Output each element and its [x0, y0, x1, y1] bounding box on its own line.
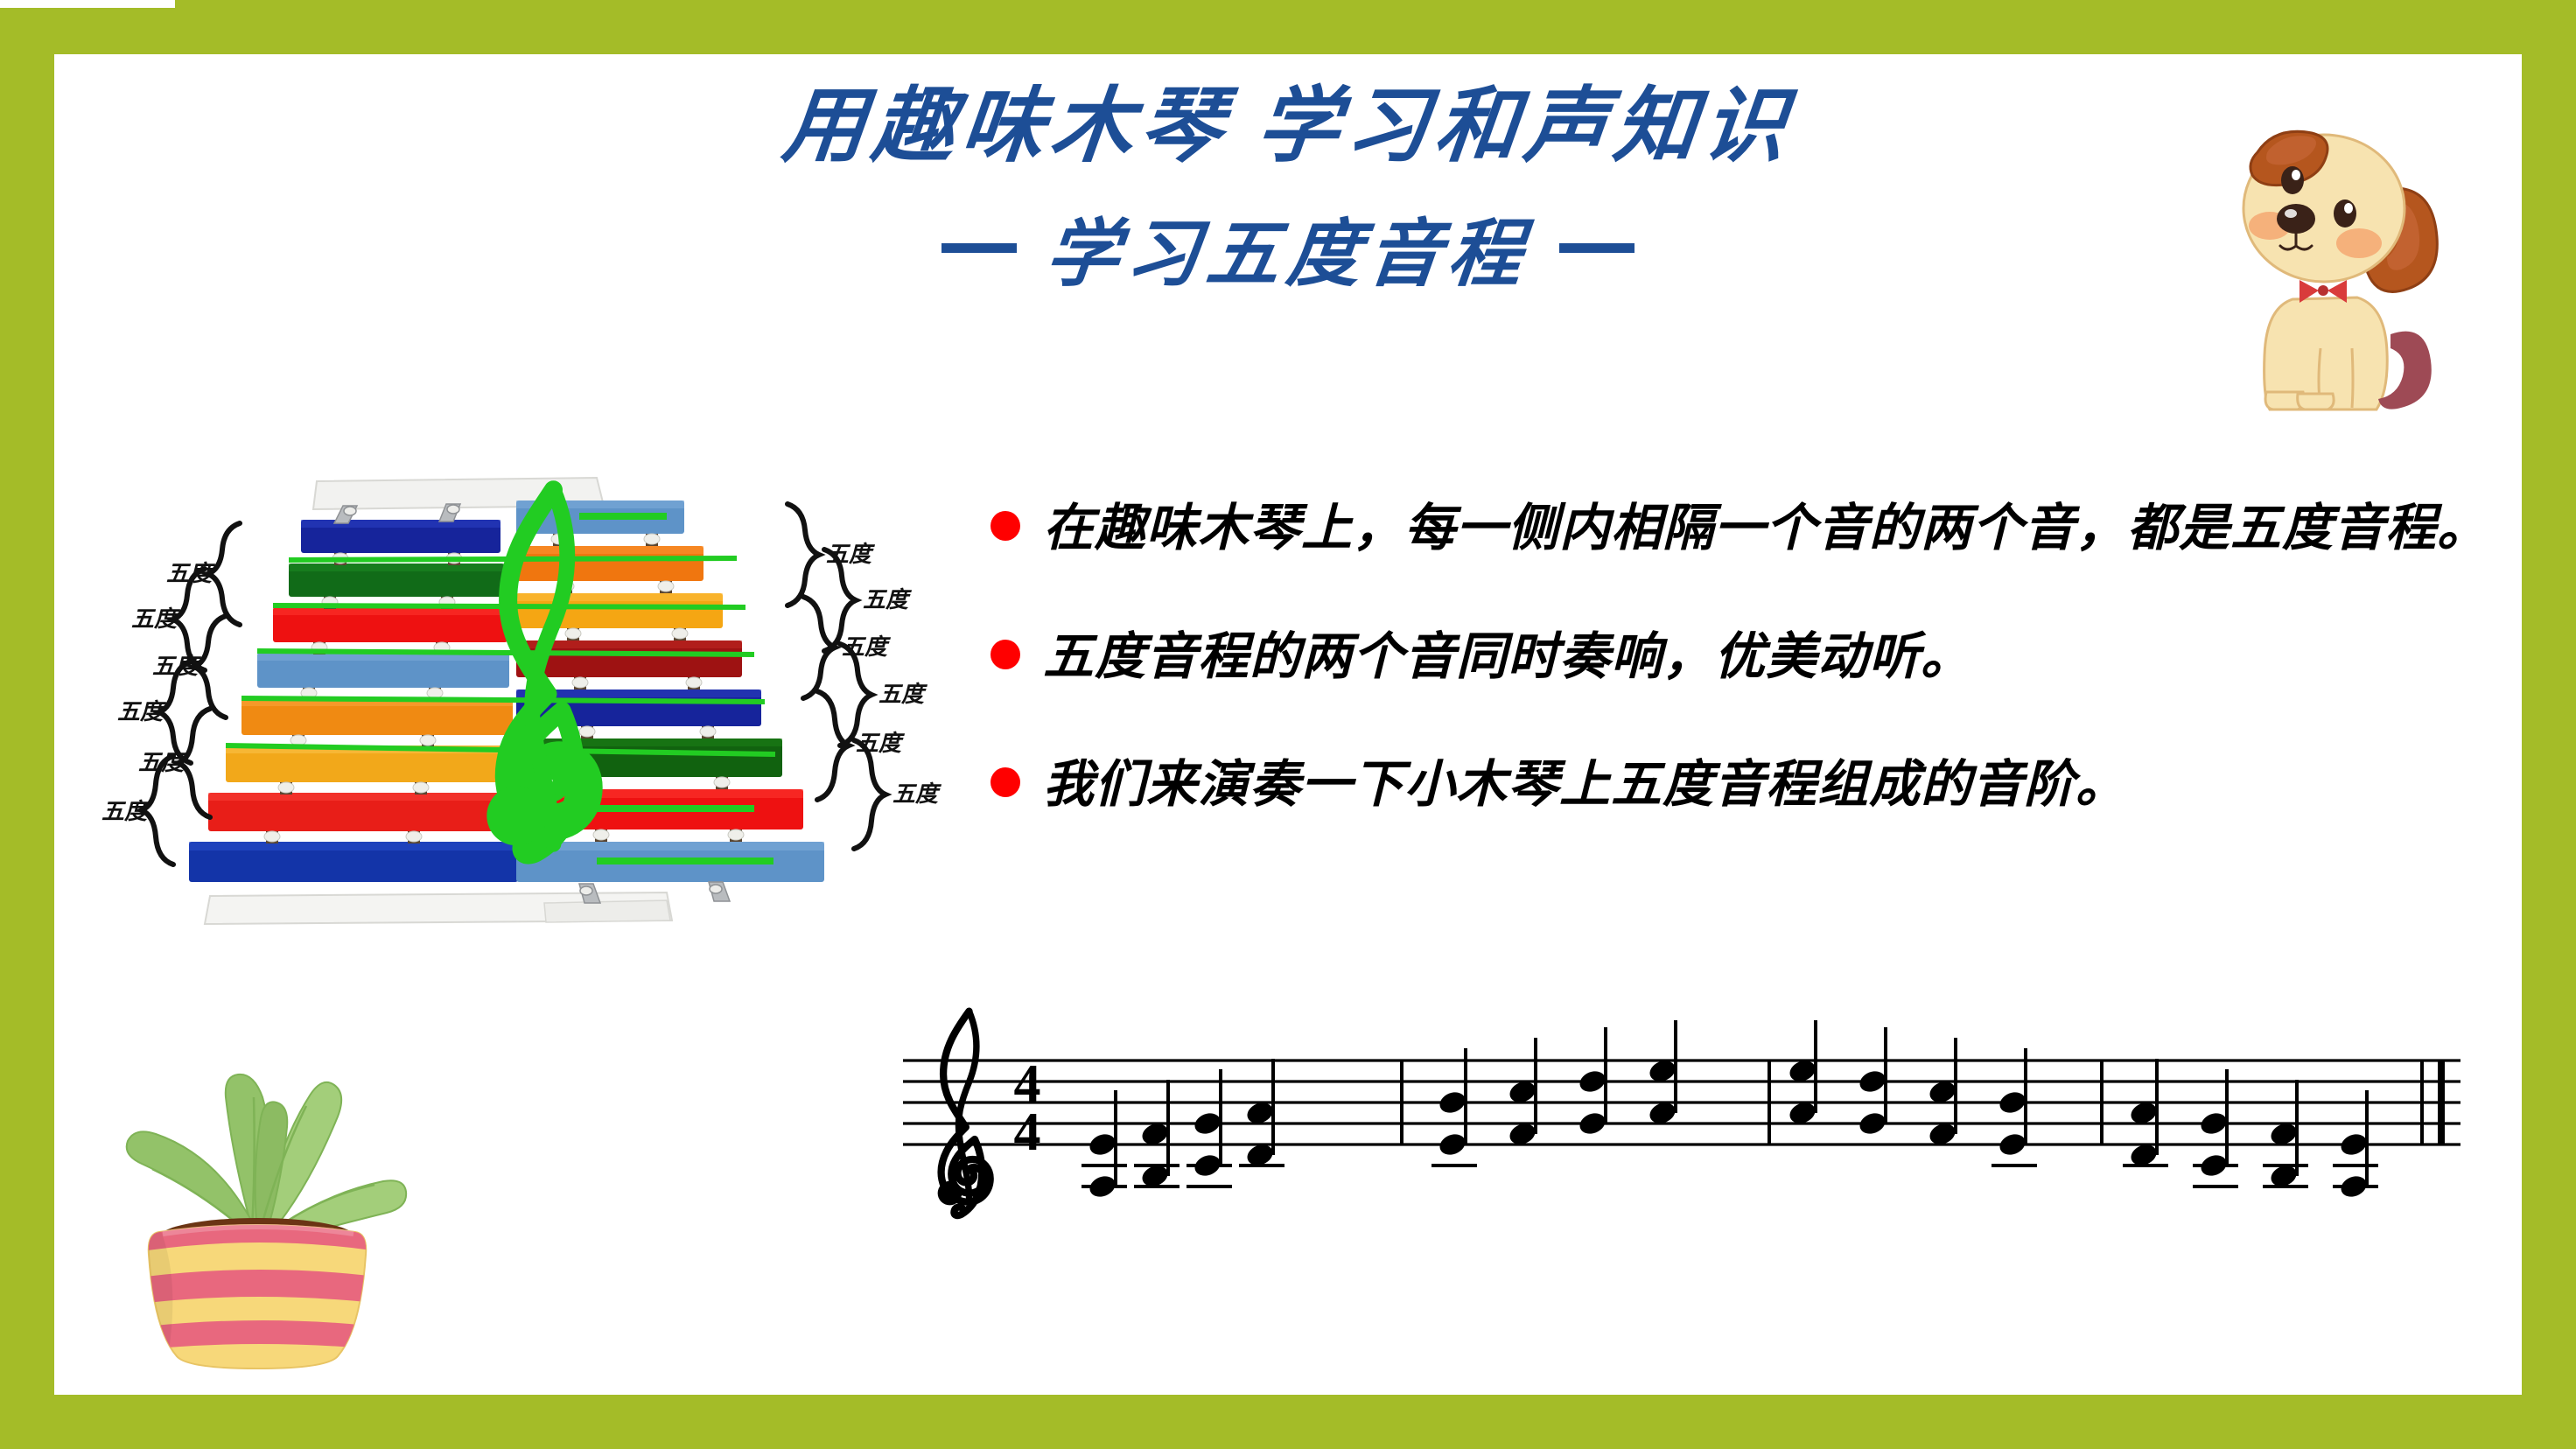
potted-succulent — [72, 999, 439, 1384]
slide-canvas: 用趣味木琴 学习和声知识 学习五度音程 — [54, 54, 2522, 1395]
left-brace-labels: 五度 五度 五度 五度 五度 五度 — [101, 561, 216, 824]
page-subtitle: 学习五度音程 — [1041, 195, 1536, 301]
bullet-text-2: 五度音程的两个音同时奏响，优美动听。 — [1043, 620, 1972, 695]
treble-clef-icon — [938, 1011, 990, 1215]
brace-label-left-2: 五度 — [131, 606, 181, 632]
top-left-white-notch — [0, 0, 175, 8]
chord-14 — [2193, 1069, 2238, 1186]
xylophone-figure: 五度 五度 五度 五度 五度 五度 五度 — [54, 465, 982, 955]
chord-15 — [2263, 1080, 2308, 1190]
brace-label-left-1: 五度 — [166, 561, 216, 586]
brace-label-right-3: 五度 — [842, 634, 892, 660]
brace-label-left-5: 五度 — [138, 750, 188, 775]
chord-12 — [1991, 1048, 2037, 1165]
chord-13 — [2123, 1059, 2168, 1169]
plant-leaves — [127, 1074, 406, 1242]
list-item: 我们来演奏一下小木琴上五度音程组成的音阶。 — [990, 748, 2504, 822]
subtitle-row: 学习五度音程 — [54, 195, 2522, 301]
list-item: 五度音程的两个音同时奏响，优美动听。 — [990, 620, 2504, 695]
subtitle-dash-left-icon — [941, 243, 1017, 253]
brace-label-left-6: 五度 — [101, 799, 151, 824]
brace-label-right-2: 五度 — [863, 587, 913, 612]
chord-7 — [1577, 1027, 1608, 1137]
chord-3 — [1186, 1069, 1232, 1186]
bullet-text-1: 在趣味木琴上，每一侧内相隔一个音的两个音，都是五度音程。 — [1043, 492, 2488, 566]
puppy-mascot — [2212, 96, 2483, 420]
bullet-dot-icon — [990, 640, 1020, 669]
slide-root: 用趣味木琴 学习和声知识 学习五度音程 — [0, 0, 2576, 1449]
bullet-list: 在趣味木琴上，每一侧内相隔一个音的两个音，都是五度音程。 五度音程的两个音同时奏… — [990, 492, 2504, 877]
chord-6 — [1507, 1038, 1538, 1148]
chord-2 — [1134, 1080, 1179, 1190]
chord-group — [1081, 1020, 2378, 1200]
bullet-dot-icon — [990, 767, 1020, 797]
title-block: 用趣味木琴 学习和声知识 学习五度音程 — [54, 79, 2522, 301]
bullet-text-3: 我们来演奏一下小木琴上五度音程组成的音阶。 — [1043, 748, 2127, 822]
chord-4 — [1239, 1059, 1284, 1169]
brace-label-right-1: 五度 — [826, 542, 876, 567]
time-sig-unit: 4 — [1014, 1102, 1041, 1162]
time-signature: 4 4 — [1014, 1054, 1041, 1162]
bullet-dot-icon — [990, 511, 1020, 541]
brace-label-left-3: 五度 — [152, 654, 202, 679]
chord-9 — [1787, 1020, 1818, 1127]
page-title: 用趣味木琴 学习和声知识 — [49, 79, 2527, 176]
chord-11 — [1927, 1038, 1958, 1148]
music-staff: 4 4 — [894, 999, 2469, 1349]
brace-label-right-6: 五度 — [892, 781, 942, 807]
brace-label-left-4: 五度 — [117, 699, 167, 724]
brace-label-right-5: 五度 — [856, 731, 906, 756]
list-item: 在趣味木琴上，每一侧内相隔一个音的两个音，都是五度音程。 — [990, 492, 2504, 566]
chord-5 — [1431, 1048, 1477, 1165]
chord-10 — [1857, 1027, 1888, 1137]
subtitle-dash-right-icon — [1559, 243, 1634, 253]
brace-label-right-4: 五度 — [878, 682, 928, 707]
chord-8 — [1647, 1020, 1678, 1127]
